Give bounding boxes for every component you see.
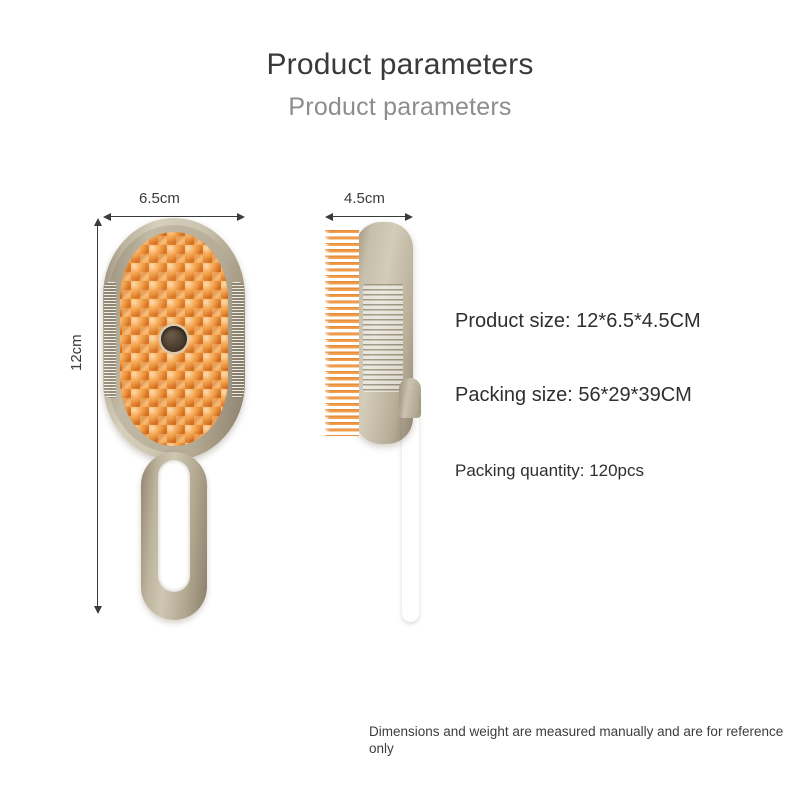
width-arrow-left-icon [103,213,111,221]
measurement-disclaimer: Dimensions and weight are measured manua… [369,723,789,757]
left-grip-ribs [104,282,116,398]
spec-packing-quantity: Packing quantity: 120pcs [455,461,644,481]
width-dimension-label: 6.5cm [139,190,180,207]
side-bristle-tips [325,230,359,436]
side-grip-ribs [363,284,403,392]
page-subtitle: Product parameters [0,93,800,122]
spec-packing-size: Packing size: 56*29*39CM [455,384,692,407]
depth-arrow-right-icon [405,213,413,221]
height-dimension-label: 12cm [68,334,85,371]
silicone-massage-pad [120,232,228,446]
height-dimension-line [97,226,98,606]
front-view-loop-handle [141,452,207,620]
width-arrow-right-icon [237,213,245,221]
depth-dimension-label: 4.5cm [344,190,385,207]
handle-opening [158,460,190,592]
product-parameters-page: Product parameters Product parameters 6.… [0,0,800,800]
depth-arrow-left-icon [325,213,333,221]
front-view-brush-head [103,218,245,460]
side-view-handle [402,392,419,622]
spec-product-size: Product size: 12*6.5*4.5CM [455,310,701,333]
width-dimension-line [111,216,237,217]
center-spray-hole [161,326,187,352]
depth-dimension-line [333,216,405,217]
page-title: Product parameters [0,48,800,82]
right-grip-ribs [232,282,244,398]
height-arrow-up-icon [94,218,102,226]
height-arrow-down-icon [94,606,102,614]
